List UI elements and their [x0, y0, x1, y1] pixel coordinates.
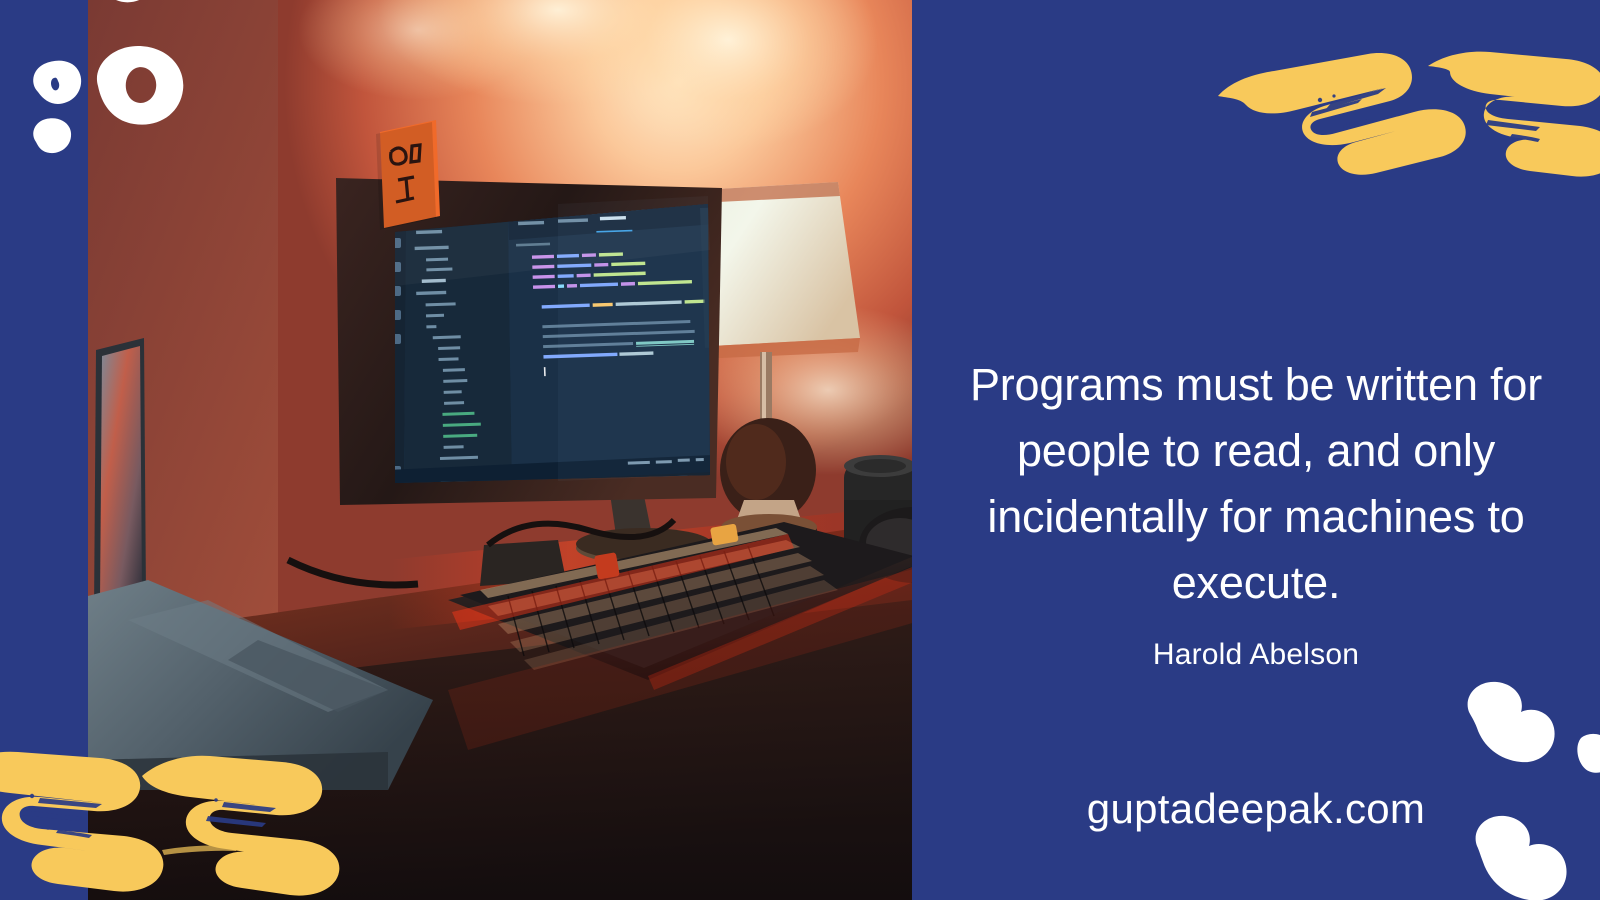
photo-illustration: [88, 0, 912, 900]
quote-card: Programs must be written for people to r…: [0, 0, 1600, 900]
quote-body: Programs must be written for people to r…: [930, 352, 1582, 617]
website-url: guptadeepak.com: [930, 785, 1582, 833]
workspace-photo: [88, 0, 912, 900]
quote-text-column: Programs must be written for people to r…: [912, 0, 1600, 900]
sticky-note: [376, 120, 440, 230]
quote-author: Harold Abelson: [930, 638, 1582, 672]
